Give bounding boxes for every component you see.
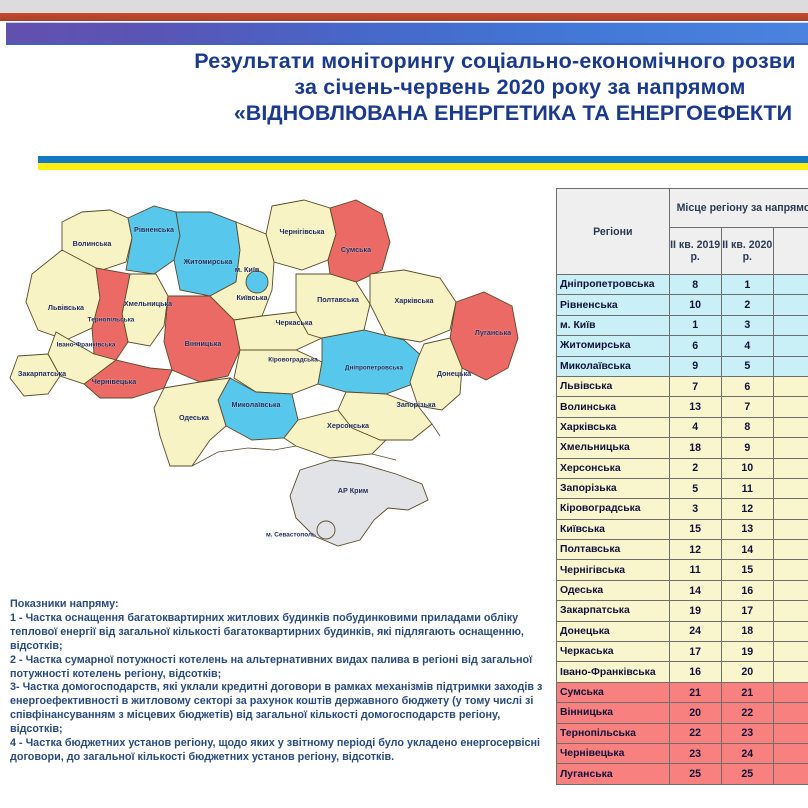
map-label-чернігівська: Чернігівська: [279, 227, 325, 236]
cell-rank-2019: 18: [669, 438, 721, 458]
ukraine-choropleth-map: ВолинськаРівненськаЖитомирськаЧернігівсь…: [4, 178, 552, 590]
cell-rank-2019: 17: [669, 642, 721, 662]
cell-region-name: Луганська: [557, 764, 670, 784]
cell-region-name: Рівненська: [557, 295, 670, 315]
cell-rank-2020: 7: [721, 397, 773, 417]
header-extra-column: [773, 228, 808, 275]
cell-extra: [773, 417, 808, 437]
map-region-khmelnytska: [122, 274, 168, 346]
cell-region-name: Кіровоградська: [557, 499, 670, 519]
cell-region-name: Полтавська: [557, 540, 670, 560]
cell-extra: [773, 621, 808, 641]
table-head: Регіони Місце регіону за напрямом II кв.…: [557, 189, 808, 275]
map-label-полтавська: Полтавська: [317, 295, 360, 304]
cell-rank-2020: 24: [721, 743, 773, 763]
cell-rank-2019: 2: [669, 458, 721, 478]
map-label-сумська: Сумська: [341, 245, 372, 254]
cell-rank-2019: 21: [669, 682, 721, 702]
cell-extra: [773, 458, 808, 478]
cell-region-name: Івано-Франківська: [557, 662, 670, 682]
top-gradient-banner: [6, 22, 808, 43]
cell-extra: [773, 560, 808, 580]
map-city-kyiv: [246, 271, 268, 293]
cell-rank-2020: 13: [721, 519, 773, 539]
map-label-черкаська: Черкаська: [275, 318, 313, 327]
table-row[interactable]: Тернопільська2223: [557, 723, 808, 743]
cell-rank-2020: 19: [721, 642, 773, 662]
table-row[interactable]: Одеська1416: [557, 580, 808, 600]
table-row[interactable]: Львівська76: [557, 376, 808, 396]
header-regions: Регіони: [557, 189, 670, 275]
cell-rank-2019: 15: [669, 519, 721, 539]
cell-rank-2019: 1: [669, 315, 721, 335]
cell-region-name: Дніпропетровська: [557, 275, 670, 295]
cell-region-name: Донецька: [557, 621, 670, 641]
cell-rank-2020: 2: [721, 295, 773, 315]
cell-rank-2019: 3: [669, 499, 721, 519]
cell-rank-2020: 16: [721, 580, 773, 600]
map-label-луганська: Луганська: [475, 328, 512, 337]
cell-rank-2020: 17: [721, 601, 773, 621]
map-label-рівненська: Рівненська: [134, 225, 175, 234]
cell-extra: [773, 642, 808, 662]
legend-item-1: 1 - Частка оснащення багатоквартирних жи…: [10, 612, 550, 654]
map-label-волинська: Волинська: [73, 239, 113, 248]
cell-extra: [773, 478, 808, 498]
map-region-rivnenska: [126, 206, 180, 274]
cell-rank-2019: 7: [669, 376, 721, 396]
cell-extra: [773, 723, 808, 743]
cell-extra: [773, 743, 808, 763]
cell-region-name: Житомирська: [557, 336, 670, 356]
top-gradient-edge: [6, 43, 808, 45]
cell-rank-2020: 25: [721, 764, 773, 784]
cell-region-name: Черкаська: [557, 642, 670, 662]
cell-extra: [773, 397, 808, 417]
cell-extra: [773, 356, 808, 376]
table-row[interactable]: Кіровоградська312: [557, 499, 808, 519]
map-region-sumska: [328, 200, 390, 282]
table-row[interactable]: Полтавська1214: [557, 540, 808, 560]
header-q2-2020: II кв. 2020 р.: [721, 228, 773, 275]
map-label-житомирська: Житомирська: [183, 257, 234, 266]
map-label-дніпропетровська: Дніпропетровська: [345, 364, 404, 372]
table-row[interactable]: Черкаська1719: [557, 642, 808, 662]
cell-rank-2019: 25: [669, 764, 721, 784]
map-label-кіровоградська: Кіровоградська: [268, 356, 318, 364]
cell-region-name: Волинська: [557, 397, 670, 417]
cell-rank-2020: 3: [721, 315, 773, 335]
map-label-одеська: Одеська: [179, 413, 210, 422]
title-line-1: Результати моніторингу соціально-економі…: [110, 48, 808, 74]
map-label-хмельницька: Хмельницька: [124, 299, 173, 308]
cell-region-name: Закарпатська: [557, 601, 670, 621]
map-region-odeska: [154, 378, 230, 466]
indicator-legend: Показники напряму: 1 - Частка оснащення …: [10, 598, 550, 765]
table-row[interactable]: Дніпропетровська81: [557, 275, 808, 295]
cell-region-name: Одеська: [557, 580, 670, 600]
map-label-чернівецька: Чернівецька: [92, 377, 138, 386]
cell-extra: [773, 703, 808, 723]
table-row[interactable]: Донецька2418: [557, 621, 808, 641]
cell-rank-2020: 20: [721, 662, 773, 682]
map-label-київська: Київська: [236, 293, 268, 302]
cell-rank-2019: 22: [669, 723, 721, 743]
table-row[interactable]: Житомирська64: [557, 336, 808, 356]
cell-region-name: Львівська: [557, 376, 670, 396]
map-label-закарпатська: Закарпатська: [18, 369, 67, 378]
table-body: Дніпропетровська81Рівненська102м. Київ13…: [557, 275, 808, 785]
map-label-м-севастополь: м. Севастополь: [266, 532, 316, 539]
cell-rank-2019: 9: [669, 356, 721, 376]
cell-extra: [773, 764, 808, 784]
cell-rank-2019: 13: [669, 397, 721, 417]
cell-rank-2019: 6: [669, 336, 721, 356]
slide-title-block: Результати моніторингу соціально-економі…: [120, 48, 808, 126]
cell-rank-2020: 10: [721, 458, 773, 478]
table-row[interactable]: Закарпатська1917: [557, 601, 808, 621]
map-label-м-київ: м. Київ: [235, 265, 260, 274]
cell-region-name: Чернігівська: [557, 560, 670, 580]
flag-blue-band: [38, 156, 808, 163]
cell-extra: [773, 295, 808, 315]
map-label-львівська: Львівська: [48, 303, 85, 312]
table-row[interactable]: Вінницька2022: [557, 703, 808, 723]
cell-region-name: Херсонська: [557, 458, 670, 478]
cell-region-name: м. Київ: [557, 315, 670, 335]
cell-extra: [773, 336, 808, 356]
cell-extra: [773, 682, 808, 702]
table-header-row-1: Регіони Місце регіону за напрямом: [557, 189, 808, 228]
table-row[interactable]: Хмельницька189: [557, 438, 808, 458]
cell-rank-2020: 5: [721, 356, 773, 376]
map-label-ар-крим: АР Крим: [338, 486, 369, 495]
top-red-accent-bar: [0, 13, 808, 21]
cell-rank-2020: 18: [721, 621, 773, 641]
top-grey-strip: [0, 0, 808, 13]
cell-extra: [773, 519, 808, 539]
ukraine-flag-divider: [38, 156, 808, 170]
cell-rank-2019: 20: [669, 703, 721, 723]
cell-region-name: Тернопільська: [557, 723, 670, 743]
map-label-запорізька: Запорізька: [396, 400, 436, 409]
cell-region-name: Харківська: [557, 417, 670, 437]
map-region-zhytomyrska: [174, 212, 240, 296]
cell-rank-2020: 12: [721, 499, 773, 519]
cell-region-name: Київська: [557, 519, 670, 539]
cell-rank-2020: 22: [721, 703, 773, 723]
cell-extra: [773, 662, 808, 682]
map-label-вінницька: Вінницька: [185, 339, 223, 348]
table-row[interactable]: Чернівецька2324: [557, 743, 808, 763]
cell-extra: [773, 438, 808, 458]
region-ranking-table: Регіони Місце регіону за напрямом II кв.…: [556, 188, 808, 785]
table-row[interactable]: Чернігівська1115: [557, 560, 808, 580]
cell-rank-2020: 14: [721, 540, 773, 560]
cell-rank-2019: 5: [669, 478, 721, 498]
title-line-2: за січень-червень 2020 року за напрямом: [160, 74, 808, 100]
legend-item-3: 3- Частка домогосподарств, які уклали кр…: [10, 681, 550, 737]
cell-extra: [773, 580, 808, 600]
cell-region-name: Вінницька: [557, 703, 670, 723]
cell-extra: [773, 540, 808, 560]
cell-rank-2020: 11: [721, 478, 773, 498]
cell-rank-2019: 14: [669, 580, 721, 600]
table-row[interactable]: Рівненська102: [557, 295, 808, 315]
cell-extra: [773, 601, 808, 621]
cell-rank-2020: 21: [721, 682, 773, 702]
cell-region-name: Чернівецька: [557, 743, 670, 763]
region-ranking-table-container[interactable]: Регіони Місце регіону за напрямом II кв.…: [556, 188, 808, 808]
map-label-тернопільська: Тернопільська: [88, 316, 135, 324]
table-row[interactable]: Харківська48: [557, 417, 808, 437]
header-group-place: Місце регіону за напрямом: [669, 189, 808, 228]
cell-rank-2019: 11: [669, 560, 721, 580]
cell-rank-2019: 12: [669, 540, 721, 560]
cell-rank-2020: 1: [721, 275, 773, 295]
cell-rank-2019: 4: [669, 417, 721, 437]
map-region-kharkivska: [370, 270, 456, 342]
table-row[interactable]: м. Київ13: [557, 315, 808, 335]
table-row[interactable]: Херсонська210: [557, 458, 808, 478]
legend-item-4: 4 - Частка бюджетних установ регіону, що…: [10, 737, 550, 765]
cell-rank-2020: 4: [721, 336, 773, 356]
title-line-3: «ВІДНОВЛЮВАНА ЕНЕРГЕТИКА ТА ЕНЕРГОЕФЕКТИ: [146, 100, 808, 126]
cell-rank-2020: 8: [721, 417, 773, 437]
map-label-донецька: Донецька: [437, 369, 472, 378]
legend-intro: Показники напряму:: [10, 598, 550, 612]
cell-extra: [773, 315, 808, 335]
cell-extra: [773, 499, 808, 519]
flag-yellow-band: [38, 163, 808, 170]
cell-rank-2019: 24: [669, 621, 721, 641]
cell-region-name: Хмельницька: [557, 438, 670, 458]
map-label-херсонська: Херсонська: [327, 421, 370, 430]
cell-extra: [773, 376, 808, 396]
cell-rank-2020: 23: [721, 723, 773, 743]
cell-rank-2019: 16: [669, 662, 721, 682]
table-row[interactable]: Івано-Франківська1620: [557, 662, 808, 682]
table-row[interactable]: Сумська2121: [557, 682, 808, 702]
cell-rank-2020: 6: [721, 376, 773, 396]
cell-rank-2019: 23: [669, 743, 721, 763]
table-row[interactable]: Запорізька511: [557, 478, 808, 498]
cell-rank-2019: 19: [669, 601, 721, 621]
cell-rank-2019: 10: [669, 295, 721, 315]
cell-region-name: Сумська: [557, 682, 670, 702]
cell-extra: [773, 275, 808, 295]
cell-region-name: Запорізька: [557, 478, 670, 498]
legend-item-2: 2 - Частка сумарної потужності котелень …: [10, 654, 550, 682]
map-label-івано-франківська: Івано-Франківська: [57, 341, 116, 349]
map-city-sevastopol: [317, 521, 335, 539]
table-row[interactable]: Луганська2525: [557, 764, 808, 784]
map-label-харківська: Харківська: [394, 296, 434, 305]
map-label-миколаївська: Миколаївська: [232, 400, 282, 409]
header-q2-2019: II кв. 2019 р.: [669, 228, 721, 275]
cell-region-name: Миколаївська: [557, 356, 670, 376]
cell-rank-2019: 8: [669, 275, 721, 295]
table-row[interactable]: Миколаївська95: [557, 356, 808, 376]
cell-rank-2020: 9: [721, 438, 773, 458]
table-row[interactable]: Волинська137: [557, 397, 808, 417]
table-row[interactable]: Київська1513: [557, 519, 808, 539]
cell-rank-2020: 15: [721, 560, 773, 580]
